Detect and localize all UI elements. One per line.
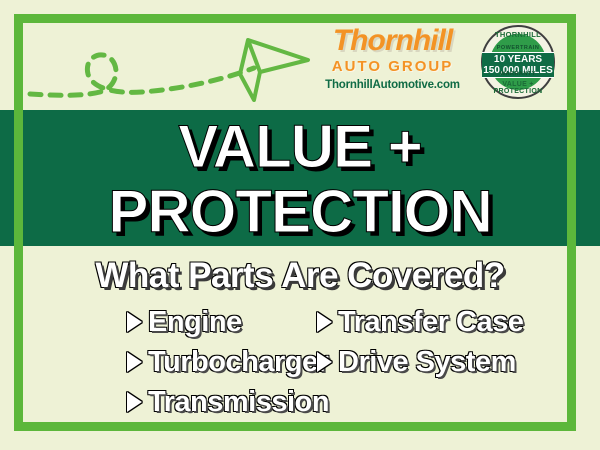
promo-banner: Thornhill AUTO GROUP ThornhillAutomotive… xyxy=(0,0,600,450)
green-border-frame xyxy=(14,14,576,431)
